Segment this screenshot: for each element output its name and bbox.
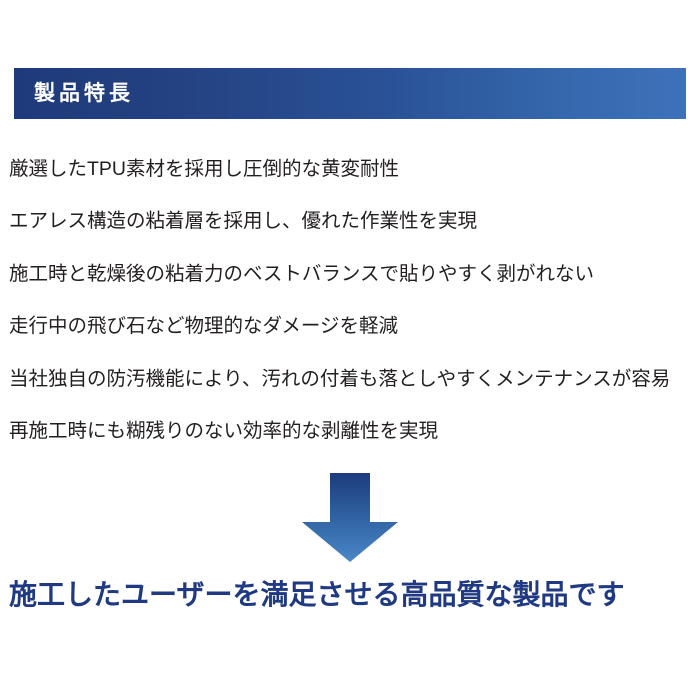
section-header-title: 製品特長 — [34, 83, 134, 104]
down-arrow-icon — [299, 470, 401, 565]
section-header-bar: 製品特長 — [14, 68, 686, 119]
closing-headline: 施工したユーザーを満足させる高品質な製品です — [9, 578, 697, 612]
feature-item: 走行中の飛び石など物理的なダメージを軽減 — [9, 301, 697, 354]
feature-list: 厳選したTPU素材を採用し圧倒的な黄変耐性 エアレス構造の粘着層を採用し、優れた… — [9, 143, 697, 458]
feature-item: 当社独自の防汚機能により、汚れの付着も落としやすくメンテナンスが容易 — [9, 353, 697, 406]
feature-item: 厳選したTPU素材を採用し圧倒的な黄変耐性 — [9, 143, 697, 196]
feature-item: 施工時と乾燥後の粘着力のベストバランスで貼りやすく剥がれない — [9, 248, 697, 301]
arrow-container — [0, 470, 700, 570]
feature-item: エアレス構造の粘着層を採用し、優れた作業性を実現 — [9, 196, 697, 249]
product-features-page: 製品特長 厳選したTPU素材を採用し圧倒的な黄変耐性 エアレス構造の粘着層を採用… — [0, 0, 700, 700]
feature-item: 再施工時にも糊残りのない効率的な剥離性を実現 — [9, 406, 697, 459]
